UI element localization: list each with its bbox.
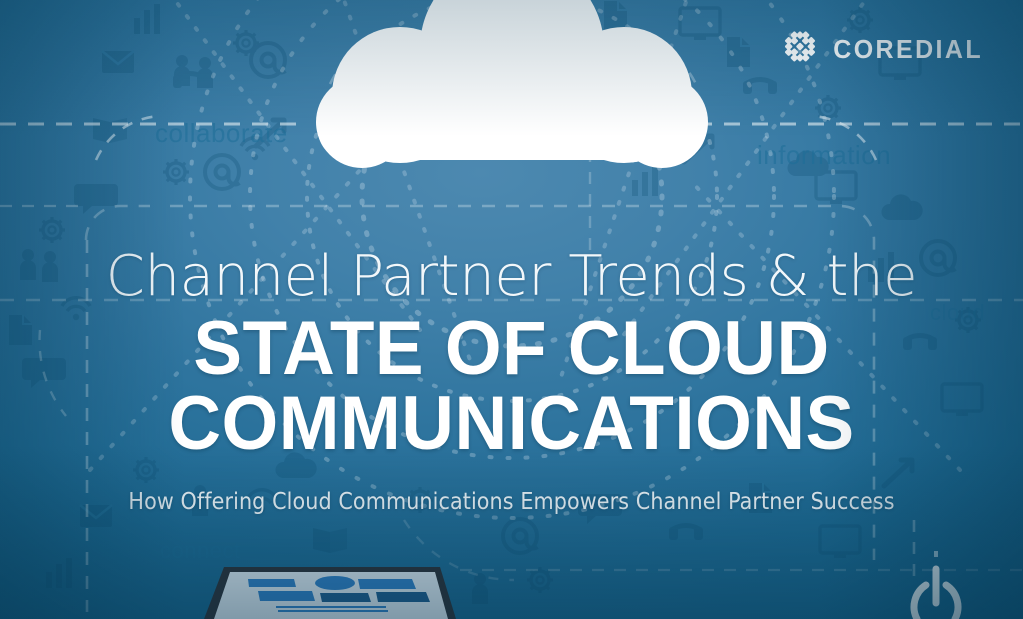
cover-slide: collaborate information connect cloud <box>0 0 1023 619</box>
vignette-overlay <box>0 0 1023 619</box>
